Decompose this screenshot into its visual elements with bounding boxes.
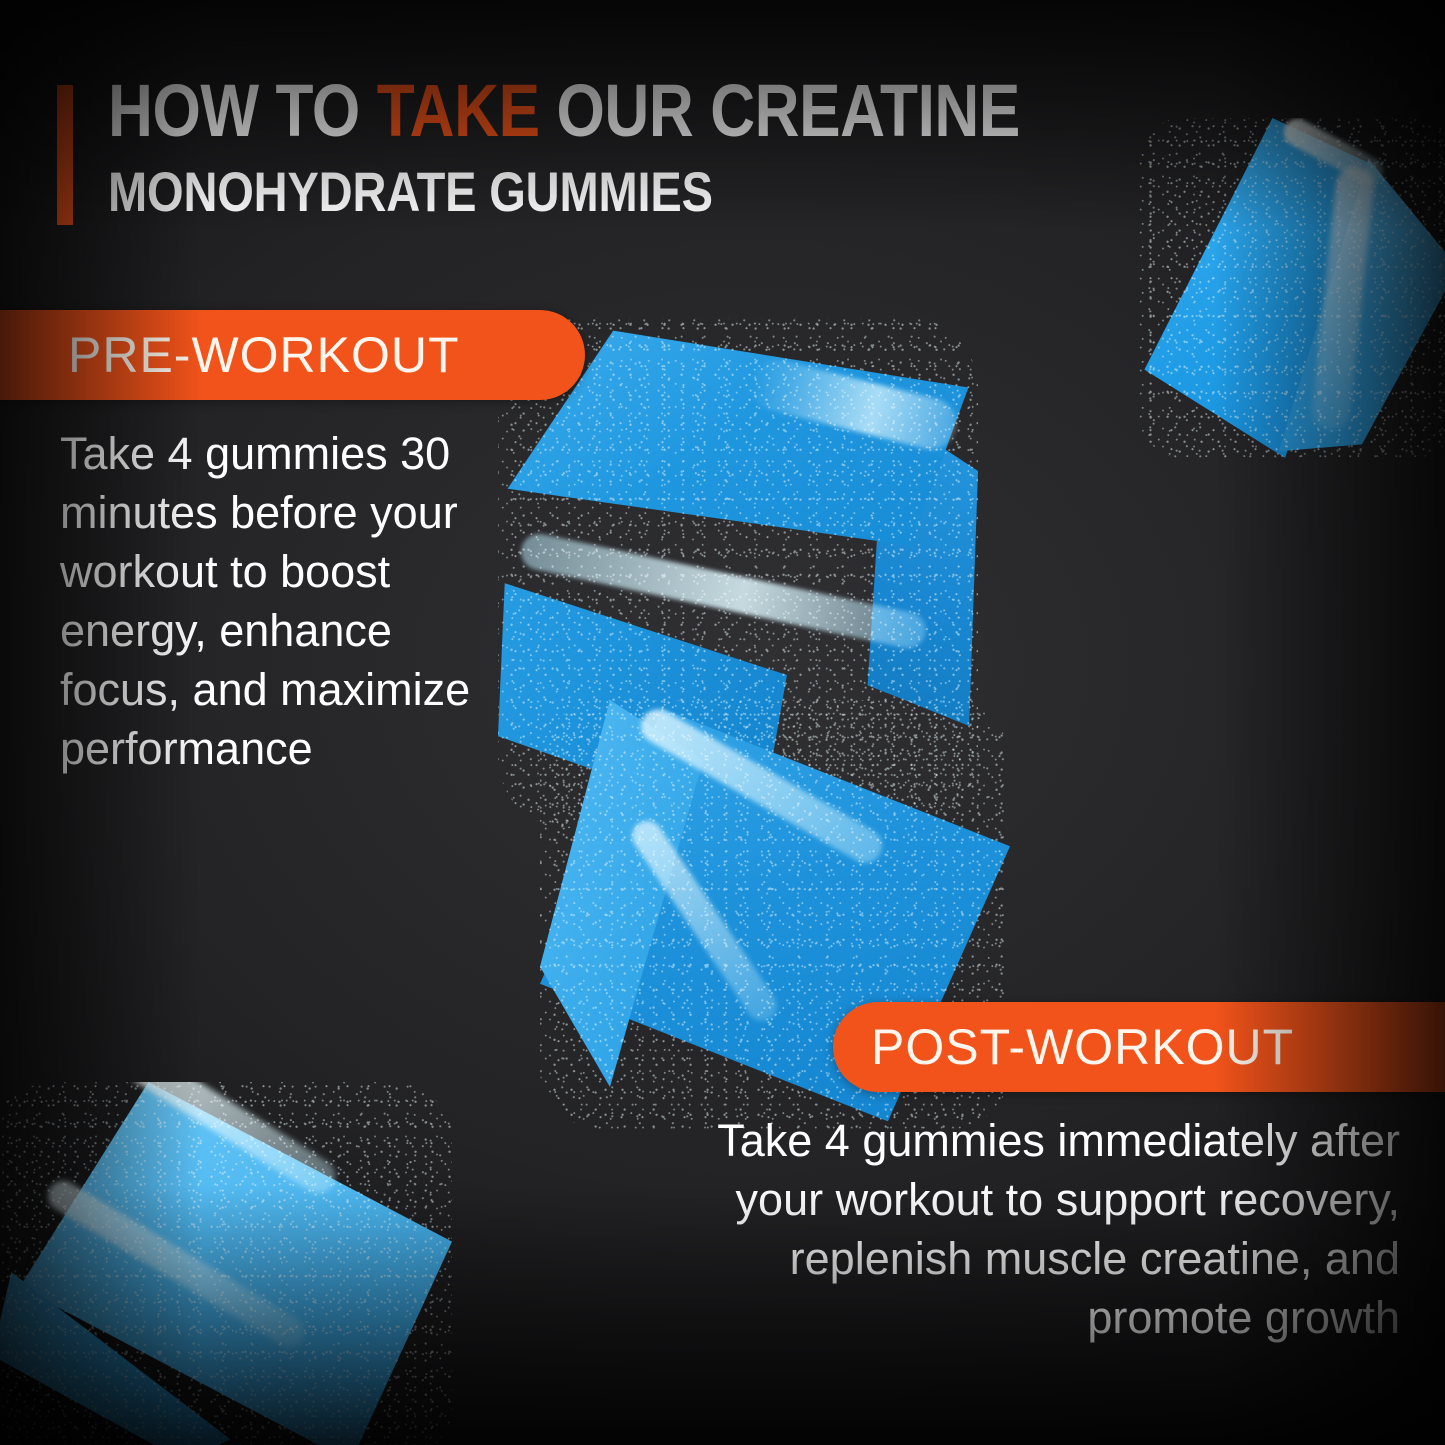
title-line-primary: HOW TO TAKE OUR CREATINE (108, 74, 1020, 148)
gummy-cube-bottom-left (0, 1082, 452, 1445)
page-title: HOW TO TAKE OUR CREATINE MONOHYDRATE GUM… (108, 74, 1194, 220)
creatine-gummies-infographic: HOW TO TAKE OUR CREATINE MONOHYDRATE GUM… (0, 0, 1445, 1445)
gummy-cube-bottom-left-body (0, 1082, 452, 1445)
title-segment-accent: TAKE (377, 69, 540, 152)
pre-workout-instructions: Take 4 gummies 30 minutes before your wo… (60, 425, 500, 779)
sugar-crystal-texture (0, 1082, 452, 1445)
badge-post-workout-label: POST-WORKOUT (871, 1018, 1294, 1076)
orange-accent-bar (57, 85, 73, 225)
badge-pre-workout-label: PRE-WORKOUT (68, 326, 460, 384)
title-segment-1: HOW TO (108, 69, 377, 152)
badge-pre-workout: PRE-WORKOUT (0, 310, 585, 400)
title-segment-3: OUR CREATINE (540, 69, 1020, 152)
post-workout-instructions: Take 4 gummies immediately after your wo… (688, 1112, 1400, 1348)
page-subtitle: MONOHYDRATE GUMMIES (108, 164, 1020, 220)
badge-post-workout: POST-WORKOUT (833, 1002, 1445, 1092)
